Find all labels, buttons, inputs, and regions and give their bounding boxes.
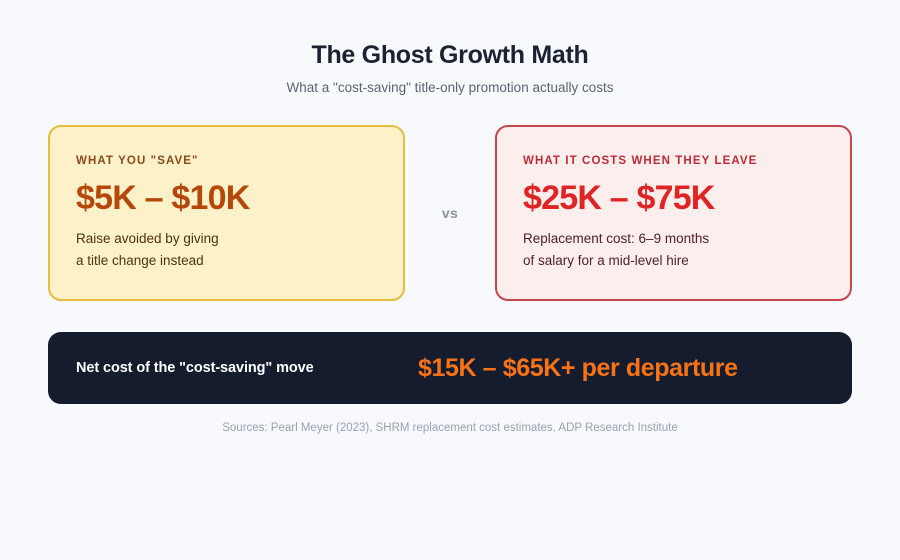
versus-separator: vs [405, 125, 495, 301]
net-cost-banner: Net cost of the "cost-saving" move $15K … [48, 332, 852, 404]
comparison-cards: WHAT YOU "SAVE" $5K – $10K Raise avoided… [48, 125, 852, 301]
versus-label: vs [442, 205, 458, 221]
card-cost-description-line1: Replacement cost: 6–9 months [523, 231, 709, 246]
card-what-it-costs: WHAT IT COSTS WHEN THEY LEAVE $25K – $75… [495, 125, 852, 301]
page-title: The Ghost Growth Math [0, 38, 900, 72]
sources-note: Sources: Pearl Meyer (2023), SHRM replac… [0, 420, 900, 436]
card-save-description-line1: Raise avoided by giving [76, 231, 219, 246]
card-what-you-save: WHAT YOU "SAVE" $5K – $10K Raise avoided… [48, 125, 405, 301]
card-cost-amount: $25K – $75K [523, 178, 824, 218]
card-save-amount: $5K – $10K [76, 178, 377, 218]
card-cost-description: Replacement cost: 6–9 months of salary f… [523, 228, 824, 272]
card-cost-eyebrow: WHAT IT COSTS WHEN THEY LEAVE [523, 154, 824, 168]
net-cost-label: Net cost of the "cost-saving" move [76, 360, 314, 376]
page-subtitle: What a "cost-saving" title-only promotio… [0, 78, 900, 98]
header: The Ghost Growth Math What a "cost-savin… [0, 38, 900, 98]
infographic-canvas: The Ghost Growth Math What a "cost-savin… [0, 0, 900, 560]
card-cost-description-line2: of salary for a mid-level hire [523, 253, 689, 268]
card-save-description-line2: a title change instead [76, 253, 204, 268]
card-save-description: Raise avoided by giving a title change i… [76, 228, 377, 272]
card-save-eyebrow: WHAT YOU "SAVE" [76, 154, 377, 168]
net-cost-value: $15K – $65K+ per departure [314, 354, 824, 383]
